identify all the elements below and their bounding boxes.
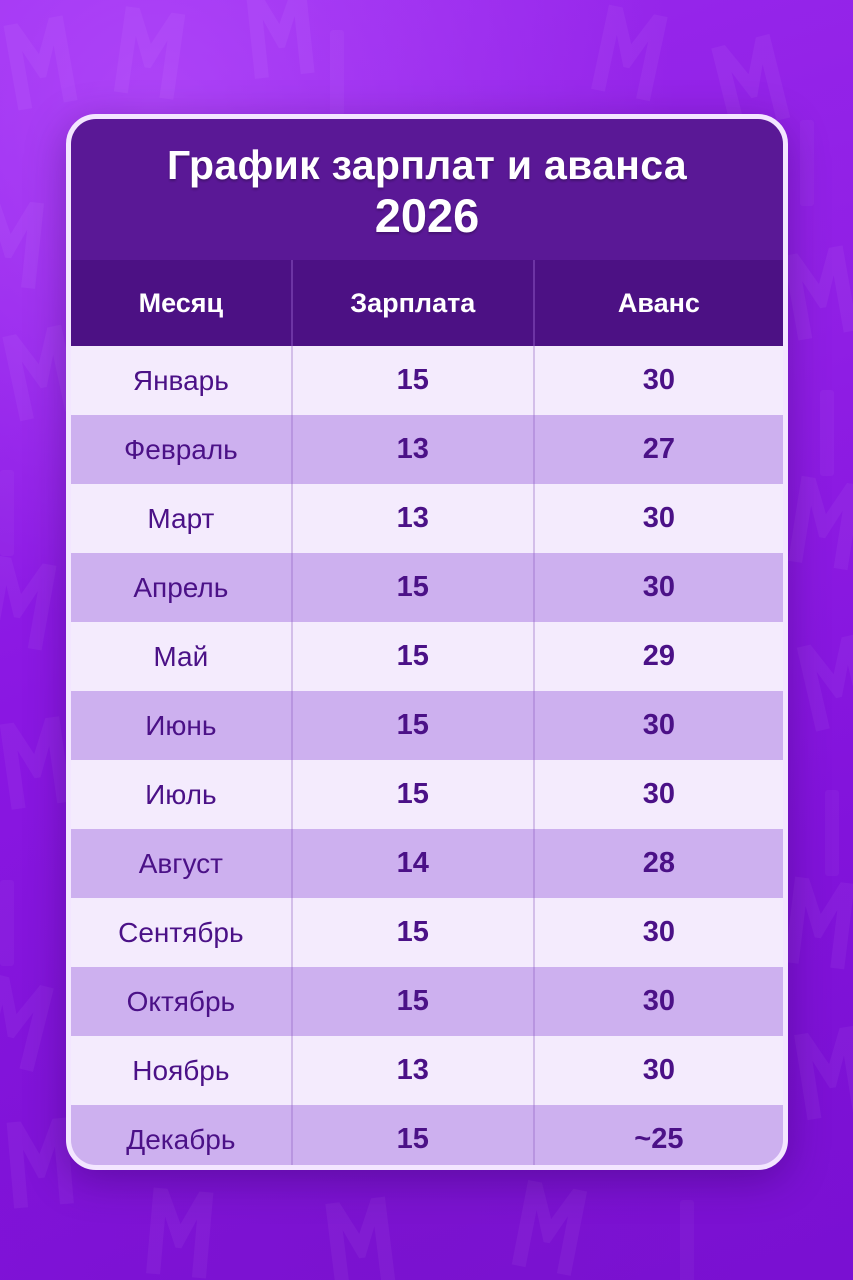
table-row: Декабрь 15 ~25 bbox=[71, 1105, 783, 1170]
cell-salary: 13 bbox=[292, 484, 534, 553]
table-row: Февраль 13 27 bbox=[71, 415, 783, 484]
page-title-year: 2026 bbox=[91, 191, 763, 240]
table-row: Апрель 15 30 bbox=[71, 553, 783, 622]
cell-advance: 28 bbox=[534, 829, 783, 898]
cell-month: Декабрь bbox=[71, 1105, 292, 1170]
cell-salary: 15 bbox=[292, 967, 534, 1036]
table-row: Сентябрь 15 30 bbox=[71, 898, 783, 967]
cell-advance: ~25 bbox=[534, 1105, 783, 1170]
cell-advance: 30 bbox=[534, 346, 783, 415]
table-row: Октябрь 15 30 bbox=[71, 967, 783, 1036]
cell-advance: 30 bbox=[534, 760, 783, 829]
cell-month: Май bbox=[71, 622, 292, 691]
cell-salary: 13 bbox=[292, 415, 534, 484]
cell-salary: 15 bbox=[292, 622, 534, 691]
cell-month: Сентябрь bbox=[71, 898, 292, 967]
table-row: Март 13 30 bbox=[71, 484, 783, 553]
cell-salary: 15 bbox=[292, 760, 534, 829]
cell-salary: 13 bbox=[292, 1036, 534, 1105]
cell-month: Март bbox=[71, 484, 292, 553]
page-title: График зарплат и аванса bbox=[91, 143, 763, 189]
cell-advance: 30 bbox=[534, 967, 783, 1036]
cell-advance: 30 bbox=[534, 898, 783, 967]
cell-advance: 30 bbox=[534, 553, 783, 622]
cell-salary: 15 bbox=[292, 1105, 534, 1170]
cell-month: Апрель bbox=[71, 553, 292, 622]
column-header-salary: Зарплата bbox=[292, 260, 534, 346]
cell-month: Ноябрь bbox=[71, 1036, 292, 1105]
cell-month: Январь bbox=[71, 346, 292, 415]
cell-month: Июль bbox=[71, 760, 292, 829]
schedule-card: График зарплат и аванса 2026 Месяц Зарпл… bbox=[66, 114, 788, 1170]
table-body: Январь 15 30 Февраль 13 27 Март 13 30 Ап… bbox=[71, 346, 783, 1170]
cell-advance: 30 bbox=[534, 691, 783, 760]
cell-salary: 14 bbox=[292, 829, 534, 898]
table-row: Май 15 29 bbox=[71, 622, 783, 691]
table-row: Август 14 28 bbox=[71, 829, 783, 898]
table-row: Июнь 15 30 bbox=[71, 691, 783, 760]
table-header: Месяц Зарплата Аванс bbox=[71, 260, 783, 346]
table-header-row: Месяц Зарплата Аванс bbox=[71, 260, 783, 346]
salary-schedule-table: Месяц Зарплата Аванс Январь 15 30 Феврал… bbox=[71, 260, 783, 1170]
card-header: График зарплат и аванса 2026 bbox=[71, 119, 783, 260]
cell-advance: 30 bbox=[534, 1036, 783, 1105]
cell-salary: 15 bbox=[292, 553, 534, 622]
cell-advance: 30 bbox=[534, 484, 783, 553]
table-row: Ноябрь 13 30 bbox=[71, 1036, 783, 1105]
cell-month: Октябрь bbox=[71, 967, 292, 1036]
cell-advance: 27 bbox=[534, 415, 783, 484]
cell-advance: 29 bbox=[534, 622, 783, 691]
column-header-month: Месяц bbox=[71, 260, 292, 346]
cell-salary: 15 bbox=[292, 691, 534, 760]
cell-month: Июнь bbox=[71, 691, 292, 760]
cell-month: Февраль bbox=[71, 415, 292, 484]
table-row: Январь 15 30 bbox=[71, 346, 783, 415]
cell-month: Август bbox=[71, 829, 292, 898]
table-row: Июль 15 30 bbox=[71, 760, 783, 829]
column-header-advance: Аванс bbox=[534, 260, 783, 346]
cell-salary: 15 bbox=[292, 898, 534, 967]
cell-salary: 15 bbox=[292, 346, 534, 415]
